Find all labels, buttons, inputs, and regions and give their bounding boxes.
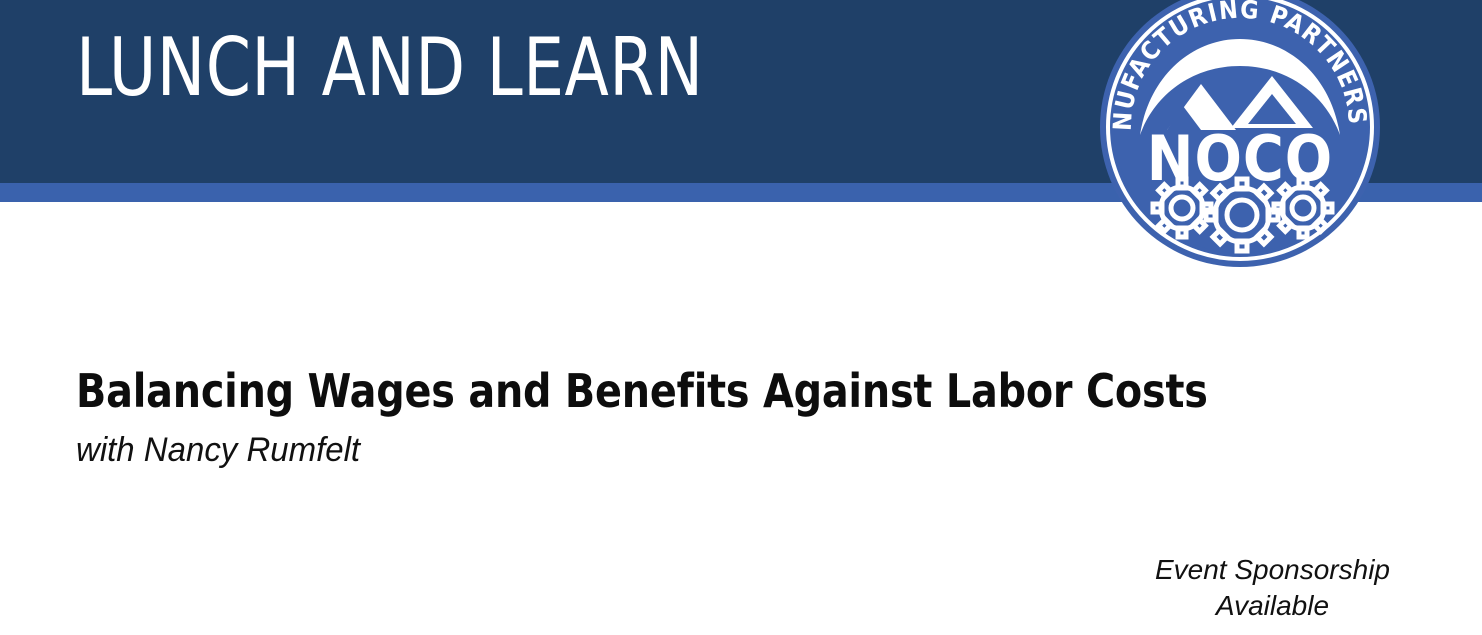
talk-title: Balancing Wages and Benefits Against Lab… [76, 362, 1208, 420]
noco-logo: MANUFACTURING PARTNERSHIP NOCO [1097, 0, 1383, 270]
event-flyer-slide: LUNCH AND LEARN MANUFACTURING PARTNERSHI… [0, 0, 1482, 635]
sponsorship-line-1: Event Sponsorship [1155, 552, 1390, 588]
sponsorship-line-2: Available [1155, 588, 1390, 624]
page-title: LUNCH AND LEARN [76, 18, 704, 118]
sponsorship-note: Event Sponsorship Available [1155, 552, 1390, 624]
presenter-name: with Nancy Rumfelt [76, 428, 360, 472]
